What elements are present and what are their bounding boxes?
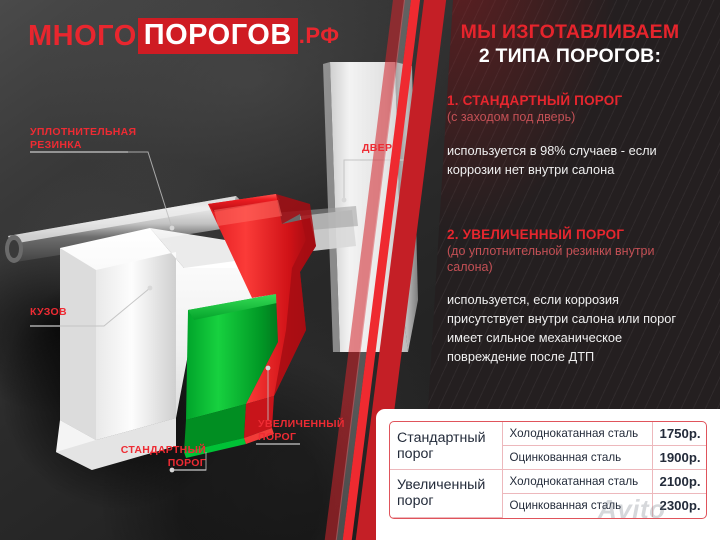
price-panel: Стандартный порог Холоднокатанная сталь … xyxy=(376,409,720,540)
price-category-increased: Увеличенный порог xyxy=(390,470,502,518)
price-amount: 2300р. xyxy=(652,494,707,518)
price-material: Оцинкованная сталь xyxy=(502,494,652,518)
section-standard-subheading: (с заходом под дверь) xyxy=(447,110,699,126)
price-amount: 1900р. xyxy=(652,446,707,470)
section-increased-heading: 2. УВЕЛИЧЕННЫЙ ПОРОГ xyxy=(447,226,699,243)
logo-part-porogov: ПОРОГОВ xyxy=(138,18,298,54)
price-amount: 2100р. xyxy=(652,470,707,494)
section-standard-heading: 1. СТАНДАРТНЫЙ ПОРОГ xyxy=(447,92,699,109)
callout-body: КУЗОВ xyxy=(30,306,67,319)
section-standard: 1. СТАНДАРТНЫЙ ПОРОГ (с заходом под двер… xyxy=(447,92,699,179)
title-line-2: 2 ТИПА ПОРОГОВ: xyxy=(432,44,708,68)
logo-part-domain: .РФ xyxy=(299,23,340,49)
price-material: Холоднокатанная сталь xyxy=(502,470,652,494)
table-row: Увеличенный порог Холоднокатанная сталь … xyxy=(390,470,707,494)
section-increased: 2. УВЕЛИЧЕННЫЙ ПОРОГ (до уплотнительной … xyxy=(447,226,699,366)
callout-sealing-rubber: УПЛОТНИТЕЛЬНАЯ РЕЗИНКА xyxy=(30,126,170,151)
callout-increased-sill: УВЕЛИЧЕННЫЙ ПОРОГ xyxy=(258,418,368,443)
price-material: Оцинкованная сталь xyxy=(502,446,652,470)
poster-root: МНОГОПОРОГОВ.РФ УПЛОТНИТЕЛЬНАЯ РЕЗИНКА К… xyxy=(0,0,720,540)
page-title: МЫ ИЗГОТАВЛИВАЕМ 2 ТИПА ПОРОГОВ: xyxy=(432,20,708,68)
callout-door: ДВЕРЬ xyxy=(362,142,400,155)
price-material: Холоднокатанная сталь xyxy=(502,422,652,446)
section-increased-body: используется, если коррозия присутствует… xyxy=(447,290,699,366)
price-amount: 1750р. xyxy=(652,422,707,446)
title-line-1: МЫ ИЗГОТАВЛИВАЕМ xyxy=(432,20,708,44)
brand-logo[interactable]: МНОГОПОРОГОВ.РФ xyxy=(28,18,340,54)
section-standard-body: используется в 98% случаев - если корроз… xyxy=(447,141,699,179)
price-table: Стандартный порог Холоднокатанная сталь … xyxy=(389,421,707,519)
price-category-standard: Стандартный порог xyxy=(390,422,502,470)
callout-standard-sill: СТАНДАРТНЫЙ ПОРОГ xyxy=(86,444,206,469)
logo-part-mnogo: МНОГО xyxy=(28,20,137,53)
table-row: Стандартный порог Холоднокатанная сталь … xyxy=(390,422,707,446)
section-increased-subheading: (до уплотнительной резинки внутри салона… xyxy=(447,244,699,275)
